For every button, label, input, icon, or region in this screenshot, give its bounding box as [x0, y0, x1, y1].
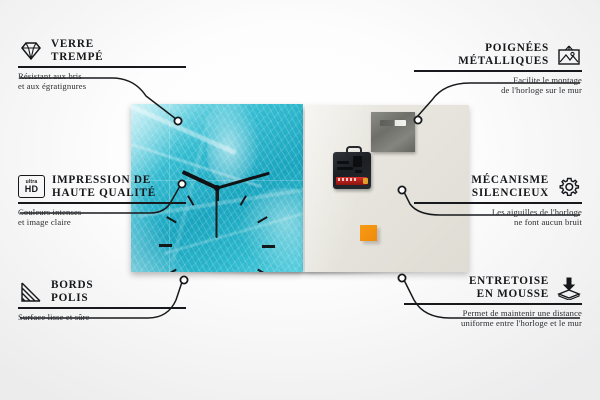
- callout-divider: [414, 202, 582, 203]
- callout-description: Couleurs intenses et image claire: [18, 207, 186, 228]
- callout-title: POIGNÉES MÉTALLIQUES: [458, 42, 549, 67]
- clock-tick: [216, 246, 218, 272]
- callout-description: Résistant aux bris et aux égratignures: [18, 71, 186, 92]
- metal-hanger-plate: [371, 112, 415, 152]
- picture-hanger-icon: [556, 43, 582, 67]
- callout-header: ultra HD IMPRESSION DE HAUTE QUALITÉ: [18, 174, 186, 199]
- callout-divider: [414, 70, 582, 71]
- battery: [336, 177, 367, 185]
- clock-tick: [159, 245, 217, 247]
- infographic-canvas: VERRE TREMPÉ Résistant aux bris et aux é…: [0, 0, 600, 400]
- hanger-keyhole-slot: [380, 120, 406, 126]
- mechanism-detail: [337, 167, 353, 170]
- clock-tick: [217, 245, 275, 247]
- callout-entretoise-en-mousse: ENTRETOISE EN MOUSSE Permet de maintenir…: [404, 275, 582, 329]
- mechanism-hang-tab: [346, 146, 362, 156]
- ultra-hd-icon: ultra HD: [18, 175, 45, 198]
- callout-impression-haute-qualite: ultra HD IMPRESSION DE HAUTE QUALITÉ Cou…: [18, 174, 186, 228]
- callout-divider: [18, 66, 186, 67]
- callout-bords-polis: BORDS POLIS Surface lisse et sûre: [18, 279, 186, 322]
- callout-divider: [18, 202, 186, 203]
- callout-divider: [404, 303, 582, 304]
- feather-plume: [207, 104, 261, 184]
- callout-poignees-metalliques: POIGNÉES MÉTALLIQUES Facilite le montage…: [414, 42, 582, 96]
- battery-terminal: [363, 178, 368, 184]
- mechanism-detail: [337, 161, 349, 164]
- callout-header: VERRE TREMPÉ: [18, 38, 186, 63]
- battery-label: [338, 178, 358, 181]
- mechanism-detail: [353, 156, 362, 167]
- callout-header: POIGNÉES MÉTALLIQUES: [414, 42, 582, 67]
- gear-icon: [556, 175, 582, 199]
- clock-mechanism: [333, 152, 371, 189]
- foam-spacer: [360, 225, 377, 241]
- callout-title: MÉCANISME SILENCIEUX: [471, 174, 549, 199]
- callout-title: BORDS POLIS: [51, 279, 93, 304]
- arrow-press-pad-icon: [556, 276, 582, 300]
- callout-description: Surface lisse et sûre: [18, 312, 186, 322]
- clock-center-hub: [214, 185, 220, 191]
- callout-header: ENTRETOISE EN MOUSSE: [404, 275, 582, 300]
- callout-divider: [18, 307, 186, 308]
- callout-header: BORDS POLIS: [18, 279, 186, 304]
- callout-description: Permet de maintenir une distance uniform…: [404, 308, 582, 329]
- mechanism-detail: [355, 170, 362, 173]
- callout-header: MÉCANISME SILENCIEUX: [414, 174, 582, 199]
- callout-description: Facilite le montage de l'horloge sur le …: [414, 75, 582, 96]
- diamond-icon: [18, 39, 44, 63]
- callout-description: Les aiguilles de l'horloge ne font aucun…: [414, 207, 582, 228]
- callout-title: ENTRETOISE EN MOUSSE: [469, 275, 549, 300]
- callout-mecanisme-silencieux: MÉCANISME SILENCIEUX Les aiguilles de l'…: [414, 174, 582, 228]
- callout-title: VERRE TREMPÉ: [51, 38, 103, 63]
- hatched-edge-icon: [18, 280, 44, 304]
- callout-title: IMPRESSION DE HAUTE QUALITÉ: [52, 174, 156, 199]
- callout-verre-trempe: VERRE TREMPÉ Résistant aux bris et aux é…: [18, 38, 186, 92]
